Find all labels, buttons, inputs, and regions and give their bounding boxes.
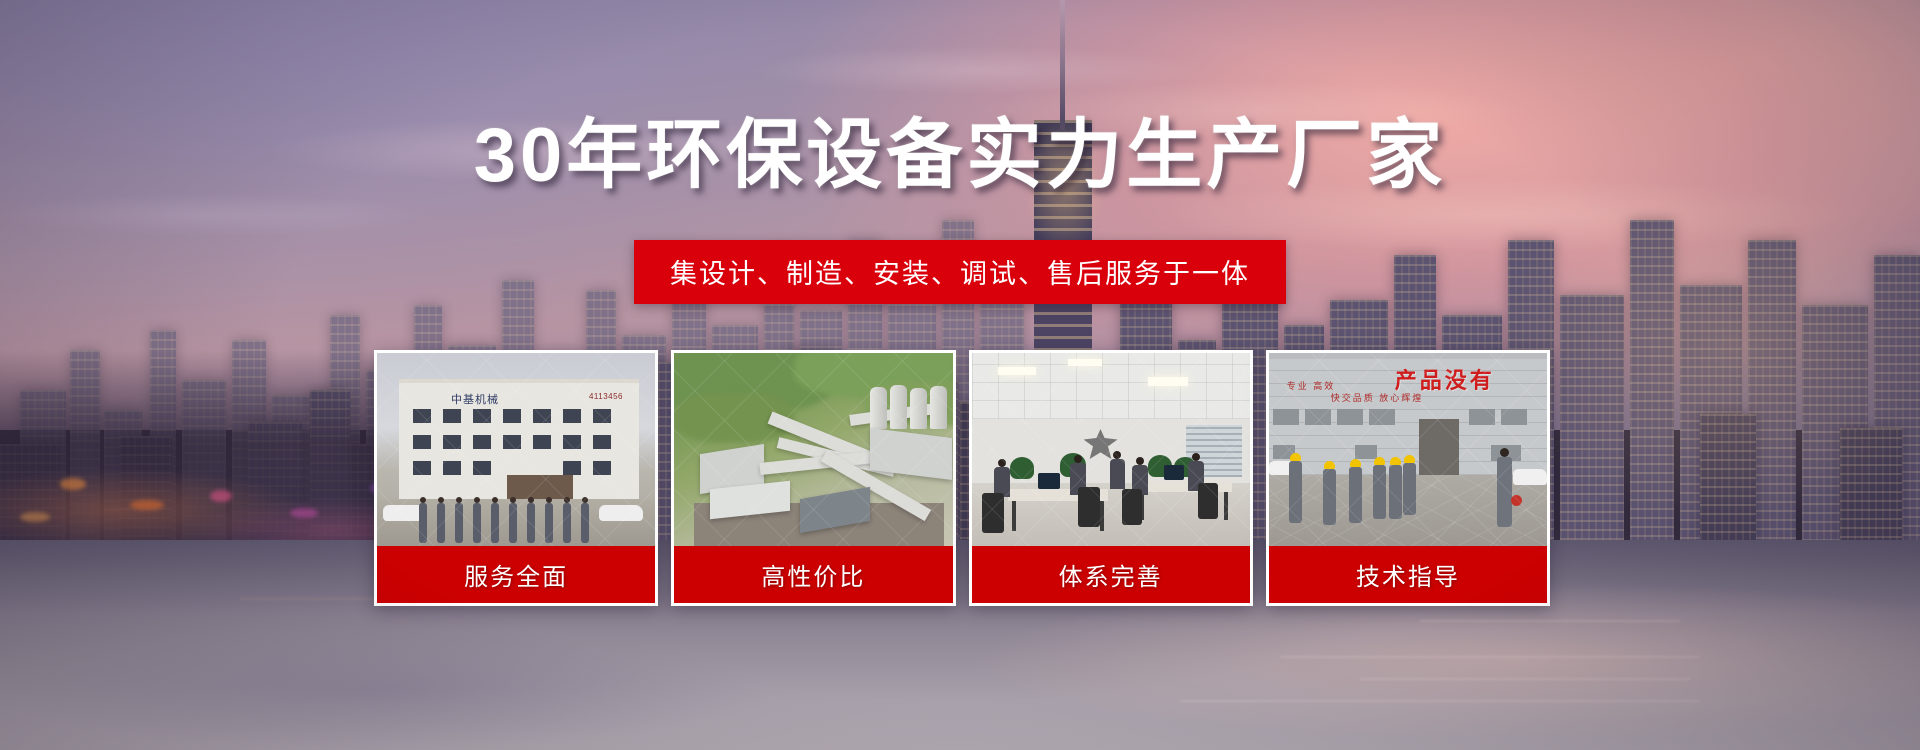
- card-photo-factory-yard: 产品没有 专业 高效 快交品质 放心辉煌: [1269, 353, 1547, 549]
- card-photo-aerial-plant: [674, 353, 952, 549]
- card-caption: 服务全面: [377, 546, 655, 603]
- feature-card-list: 中基机械 4113456: [374, 350, 1550, 606]
- factory-slogan-left: 专业 高效: [1287, 379, 1336, 392]
- feature-card[interactable]: 产品没有 专业 高效 快交品质 放心辉煌: [1266, 350, 1550, 606]
- card-caption: 高性价比: [674, 546, 952, 603]
- card-caption: 技术指导: [1269, 546, 1547, 603]
- card-photo-office-building: 中基机械 4113456: [377, 353, 655, 549]
- feature-card[interactable]: 中基机械 4113456: [374, 350, 658, 606]
- hero-banner: 30年环保设备实力生产厂家 集设计、制造、安装、调试、售后服务于一体 中基机械 …: [0, 0, 1920, 750]
- building-phone-text: 4113456: [589, 392, 623, 401]
- page-title: 30年环保设备实力生产厂家: [0, 118, 1920, 194]
- card-caption: 体系完善: [972, 546, 1250, 603]
- feature-card[interactable]: 高性价比: [671, 350, 955, 606]
- subtitle-container: 集设计、制造、安装、调试、售后服务于一体: [0, 240, 1920, 304]
- building-sign-text: 中基机械: [451, 391, 499, 407]
- card-photo-office-interior: [972, 353, 1250, 549]
- feature-card[interactable]: 体系完善: [969, 350, 1253, 606]
- factory-slogan-right: 快交品质 放心辉煌: [1331, 391, 1424, 404]
- subtitle-badge: 集设计、制造、安装、调试、售后服务于一体: [634, 240, 1286, 304]
